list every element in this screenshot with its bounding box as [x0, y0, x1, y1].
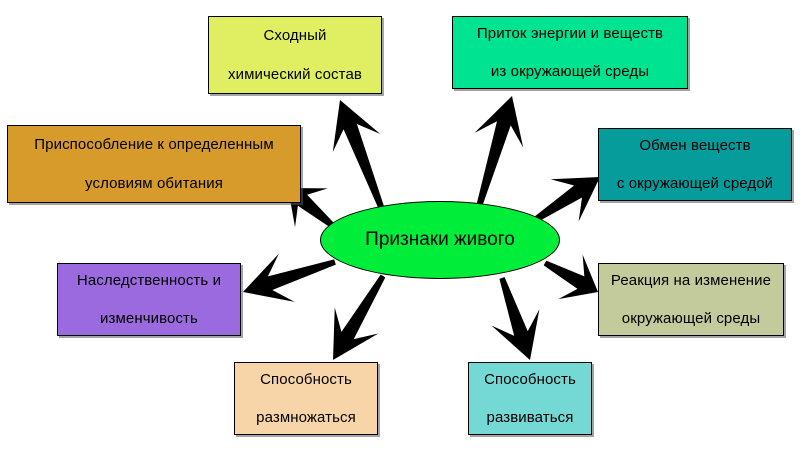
node-label: Способность размножаться	[241, 370, 371, 428]
diagram-canvas: Признаки живого Сходный химический соста…	[0, 0, 800, 454]
node-label: Наследственность и изменчивость	[64, 271, 234, 329]
arrow-to-chemical-composition	[333, 100, 386, 213]
node-label: Приспособление к определенным условиям о…	[14, 135, 294, 193]
center-node-label: Признаки живого	[365, 229, 515, 251]
node-label-line2: развиваться	[475, 408, 585, 427]
node-label-line1: Приспособление к определенным	[14, 135, 294, 154]
node-label: Обмен веществ с окружающей средой	[605, 136, 785, 194]
node-label-line1: Приток энергии и веществ	[459, 24, 681, 43]
node-label-line2: изменчивость	[64, 309, 234, 328]
node-label-line2: окружающей среды	[605, 309, 777, 328]
node-label: Сходный химический состав	[215, 26, 375, 84]
arrow-to-metabolism	[530, 177, 600, 224]
node-label: Реакция на изменение окружающей среды	[605, 271, 777, 329]
node-label-line2: химический состав	[215, 65, 375, 84]
node-label-line2: размножаться	[241, 408, 371, 427]
arrow-to-heredity-variability	[243, 254, 336, 302]
node-metabolism[interactable]: Обмен веществ с окружающей средой	[598, 128, 792, 201]
node-adaptation[interactable]: Приспособление к определенным условиям о…	[7, 125, 301, 203]
node-reaction-to-change[interactable]: Реакция на изменение окружающей среды	[598, 263, 784, 336]
arrow-to-ability-to-develop	[491, 277, 539, 360]
node-label-line1: Обмен веществ	[605, 136, 785, 155]
arrow-to-reaction-to-change	[544, 255, 598, 299]
node-ability-to-reproduce[interactable]: Способность размножаться	[234, 362, 378, 435]
node-label: Приток энергии и веществ из окружающей с…	[459, 24, 681, 82]
node-label-line2: с окружающей средой	[605, 174, 785, 193]
node-label-line2: условиям обитания	[14, 174, 294, 193]
node-label-line1: Реакция на изменение	[605, 271, 777, 290]
node-label-line1: Наследственность и	[64, 271, 234, 290]
node-heredity-variability[interactable]: Наследственность и изменчивость	[57, 263, 241, 336]
node-label: Способность развиваться	[475, 370, 585, 428]
node-label-line2: из окружающей среды	[459, 62, 681, 81]
node-label-line1: Способность	[475, 370, 585, 389]
node-energy-inflow[interactable]: Приток энергии и веществ из окружающей с…	[452, 16, 688, 89]
arrow-to-energy-inflow	[475, 96, 524, 211]
node-label-line1: Сходный	[215, 26, 375, 45]
center-node-signs-of-life[interactable]: Признаки живого	[320, 201, 560, 279]
node-chemical-composition[interactable]: Сходный химический состав	[208, 16, 382, 94]
node-label-line1: Способность	[241, 370, 371, 389]
node-ability-to-develop[interactable]: Способность развиваться	[468, 362, 592, 435]
arrow-to-ability-to-reproduce	[333, 275, 385, 360]
